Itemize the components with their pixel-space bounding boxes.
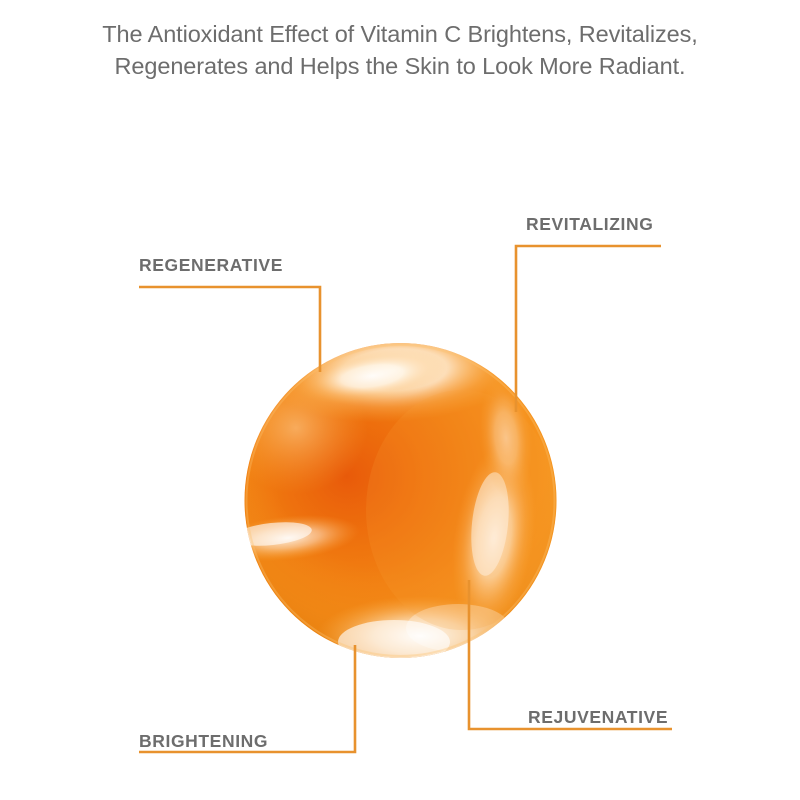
callout-label-revitalizing: REVITALIZING (526, 214, 653, 235)
callout-label-brightening: BRIGHTENING (139, 731, 268, 752)
infographic-canvas: The Antioxidant Effect of Vitamin C Brig… (0, 0, 800, 800)
callout-label-rejuvenative: REJUVENATIVE (528, 707, 668, 728)
page-title: The Antioxidant Effect of Vitamin C Brig… (0, 18, 800, 82)
callout-label-regenerative: REGENERATIVE (139, 255, 283, 276)
sphere-illustration (244, 342, 557, 659)
vitamin-c-sphere (244, 342, 557, 659)
